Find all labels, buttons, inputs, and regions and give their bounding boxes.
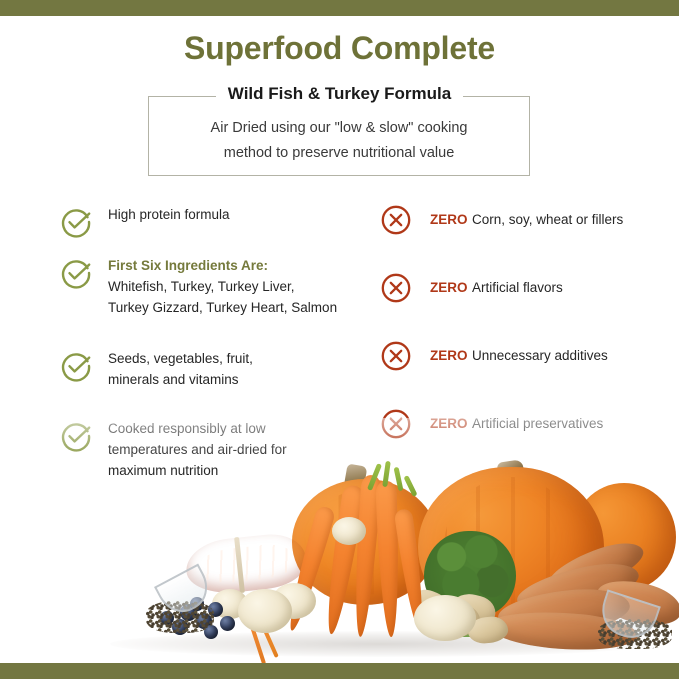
exclusion-item: ZERO Unnecessary additives [380,340,670,372]
benefit-line: Seeds, vegetables, fruit, [108,348,360,369]
x-circle-icon [380,204,412,236]
benefit-line: Whitefish, Turkey, Turkey Liver, [108,276,360,297]
exclusion-item: ZERO Corn, soy, wheat or fillers [380,204,670,236]
blueberry [220,616,235,631]
check-circle-icon [60,350,92,382]
zero-label: ZERO [430,348,468,363]
exclusion-text: Artificial flavors [472,280,563,295]
benefit-item: High protein formula [60,204,360,225]
check-circle-icon [60,206,92,238]
page-title: Superfood Complete [0,30,679,67]
benefit-item: First Six Ingredients Are: Whitefish, Tu… [60,255,360,318]
bottom-brand-bar [0,663,679,679]
zero-label: ZERO [430,212,468,227]
formula-desc-line-2: method to preserve nutritional value [152,141,526,166]
check-circle-icon [60,257,92,289]
top-brand-bar [0,0,679,16]
x-circle-icon [380,272,412,304]
x-circle-icon [380,340,412,372]
formula-desc-line-1: Air Dried using our "low & slow" cooking [152,116,526,141]
benefit-heading: First Six Ingredients Are: [108,255,360,276]
formula-description: Air Dried using our "low & slow" cooking… [152,116,526,166]
cauliflower-floret [414,595,476,641]
exclusion-item: ZERO Artificial flavors [380,272,670,304]
cauliflower-floret [238,589,292,633]
formula-name-wrap: Wild Fish & Turkey Formula [0,84,679,104]
cauliflower-floret [332,517,366,545]
exclusion-text: Unnecessary additives [472,348,608,363]
superfood-ingredients-photo [0,418,679,663]
exclusion-text: Corn, soy, wheat or fillers [472,212,623,227]
benefit-line: High protein formula [108,204,360,225]
benefit-item: Seeds, vegetables, fruit, minerals and v… [60,348,360,390]
formula-name: Wild Fish & Turkey Formula [216,84,463,103]
benefit-line: minerals and vitamins [108,369,360,390]
benefit-line: Turkey Gizzard, Turkey Heart, Salmon [108,297,360,318]
infographic-page: Superfood Complete Wild Fish & Turkey Fo… [0,0,679,679]
zero-label: ZERO [430,280,468,295]
